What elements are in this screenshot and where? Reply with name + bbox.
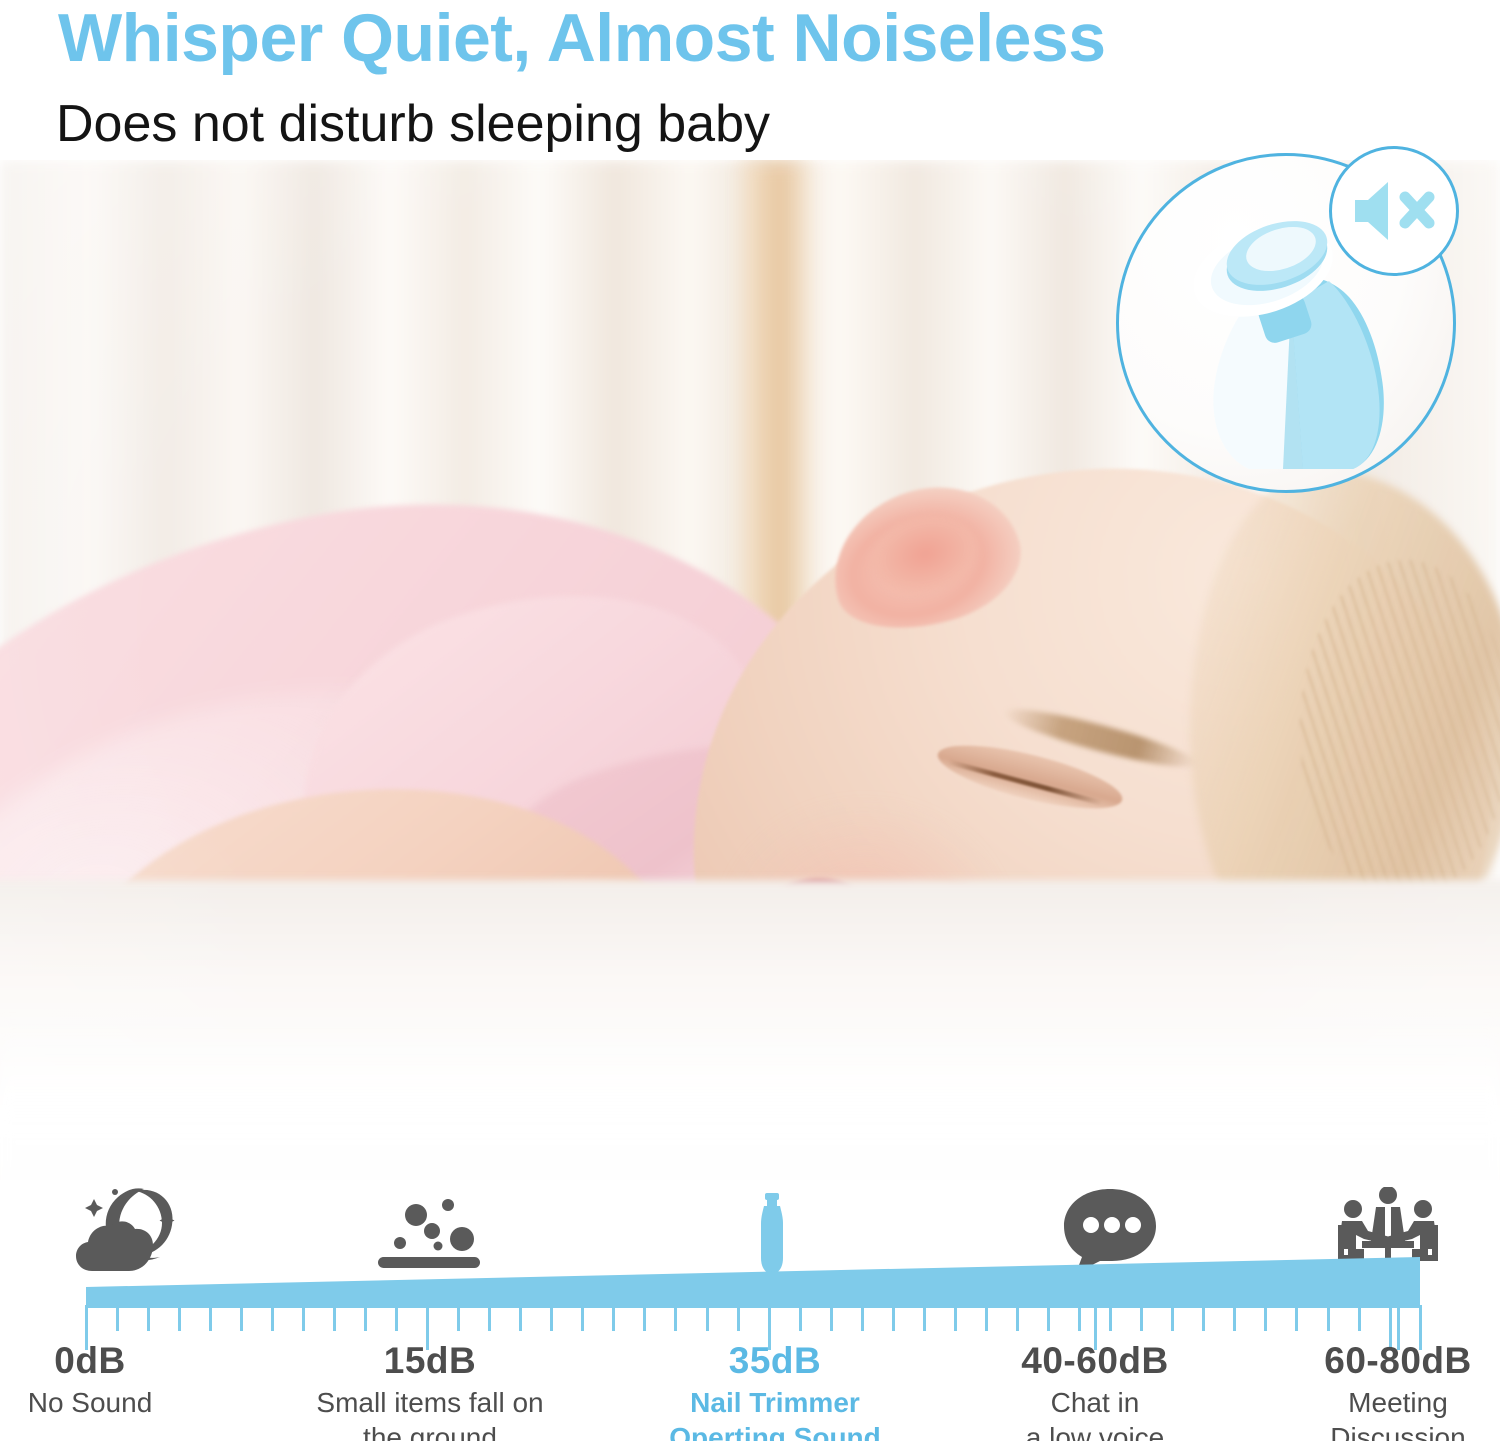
scale-tick-minor: [861, 1305, 864, 1331]
scale-tick-minor: [1295, 1305, 1298, 1331]
scale-label-description: Small items fall on: [316, 1385, 543, 1420]
scale-tick-minor: [674, 1305, 677, 1331]
scale-tick-minor: [1171, 1305, 1174, 1331]
scale-label-db-value: 35dB: [669, 1340, 881, 1383]
speaker-mute-icon: [1351, 177, 1437, 245]
scale-tick-minor: [240, 1305, 243, 1331]
scale-tick-minor: [147, 1305, 150, 1331]
scale-tick-minor: [1233, 1305, 1236, 1331]
scale-tick-minor: [581, 1305, 584, 1331]
scale-tick-minor: [892, 1305, 895, 1331]
scale-label-description: No Sound: [28, 1385, 153, 1420]
scale-tick-minor: [116, 1305, 119, 1331]
scale-tick-minor: [799, 1305, 802, 1331]
scale-label-15db: 15dBSmall items fall onthe ground: [316, 1340, 543, 1441]
scale-label-description: Nail Trimmer: [669, 1385, 881, 1420]
scale-tick-minor: [457, 1305, 460, 1331]
decibel-scale: 0dBNo Sound15dBSmall items fall onthe gr…: [0, 1180, 1500, 1441]
page-title: Whisper Quiet, Almost Noiseless: [58, 2, 1106, 75]
scale-tick-minor: [333, 1305, 336, 1331]
scale-tick-minor: [395, 1305, 398, 1331]
scale-tick-minor: [985, 1305, 988, 1331]
scale-label-db-value: 40-60dB: [1021, 1340, 1168, 1383]
scale-tick-minor: [1264, 1305, 1267, 1331]
scale-label-db-value: 0dB: [28, 1340, 153, 1383]
scale-tick-minor: [612, 1305, 615, 1331]
scale-tick-minor: [364, 1305, 367, 1331]
scale-label-description: Discussion: [1324, 1420, 1471, 1441]
scale-label-description: the ground: [316, 1420, 543, 1441]
scale-label-description: Operting Sound: [669, 1420, 881, 1441]
scale-tick-minor: [550, 1305, 553, 1331]
scale-tick-minor: [1109, 1305, 1112, 1331]
scale-label-0db: 0dBNo Sound: [28, 1340, 153, 1420]
scale-tick-minor: [954, 1305, 957, 1331]
scale-label-description: Chat in: [1021, 1385, 1168, 1420]
scale-tick-minor: [830, 1305, 833, 1331]
page-subtitle: Does not disturb sleeping baby: [56, 96, 770, 153]
scale-tick-minor: [271, 1305, 274, 1331]
scale-labels: 0dBNo Sound15dBSmall items fall onthe gr…: [0, 1340, 1500, 1441]
scale-tick-minor: [1016, 1305, 1019, 1331]
scale-tick-minor: [1358, 1305, 1361, 1331]
scale-tick-minor: [706, 1305, 709, 1331]
scale-tick-minor: [923, 1305, 926, 1331]
scale-tick-minor: [1327, 1305, 1330, 1331]
scale-tick-minor: [643, 1305, 646, 1331]
scale-tick-minor: [488, 1305, 491, 1331]
product-inset-circle: [1116, 153, 1456, 493]
mute-badge: [1329, 146, 1459, 276]
scale-label-description: a low voice: [1021, 1420, 1168, 1441]
scale-tick-minor: [178, 1305, 181, 1331]
scale-tick-minor: [209, 1305, 212, 1331]
scale-label-6080db: 60-80dBMeetingDiscussion: [1324, 1340, 1471, 1441]
scale-tick-minor: [737, 1305, 740, 1331]
infographic-stage: Whisper Quiet, Almost Noiseless Does not…: [0, 0, 1500, 1441]
scale-tick-minor: [1140, 1305, 1143, 1331]
scale-tick-minor: [1078, 1305, 1081, 1331]
scale-tick-minor: [519, 1305, 522, 1331]
scale-tick-minor: [302, 1305, 305, 1331]
scale-label-db-value: 15dB: [316, 1340, 543, 1383]
scale-label-4060db: 40-60dBChat ina low voice: [1021, 1340, 1168, 1441]
scale-tick-minor: [1047, 1305, 1050, 1331]
scale-label-35db: 35dBNail TrimmerOperting Sound: [669, 1340, 881, 1441]
scale-label-db-value: 60-80dB: [1324, 1340, 1471, 1383]
scale-tick-minor: [1202, 1305, 1205, 1331]
scale-label-description: Meeting: [1324, 1385, 1471, 1420]
